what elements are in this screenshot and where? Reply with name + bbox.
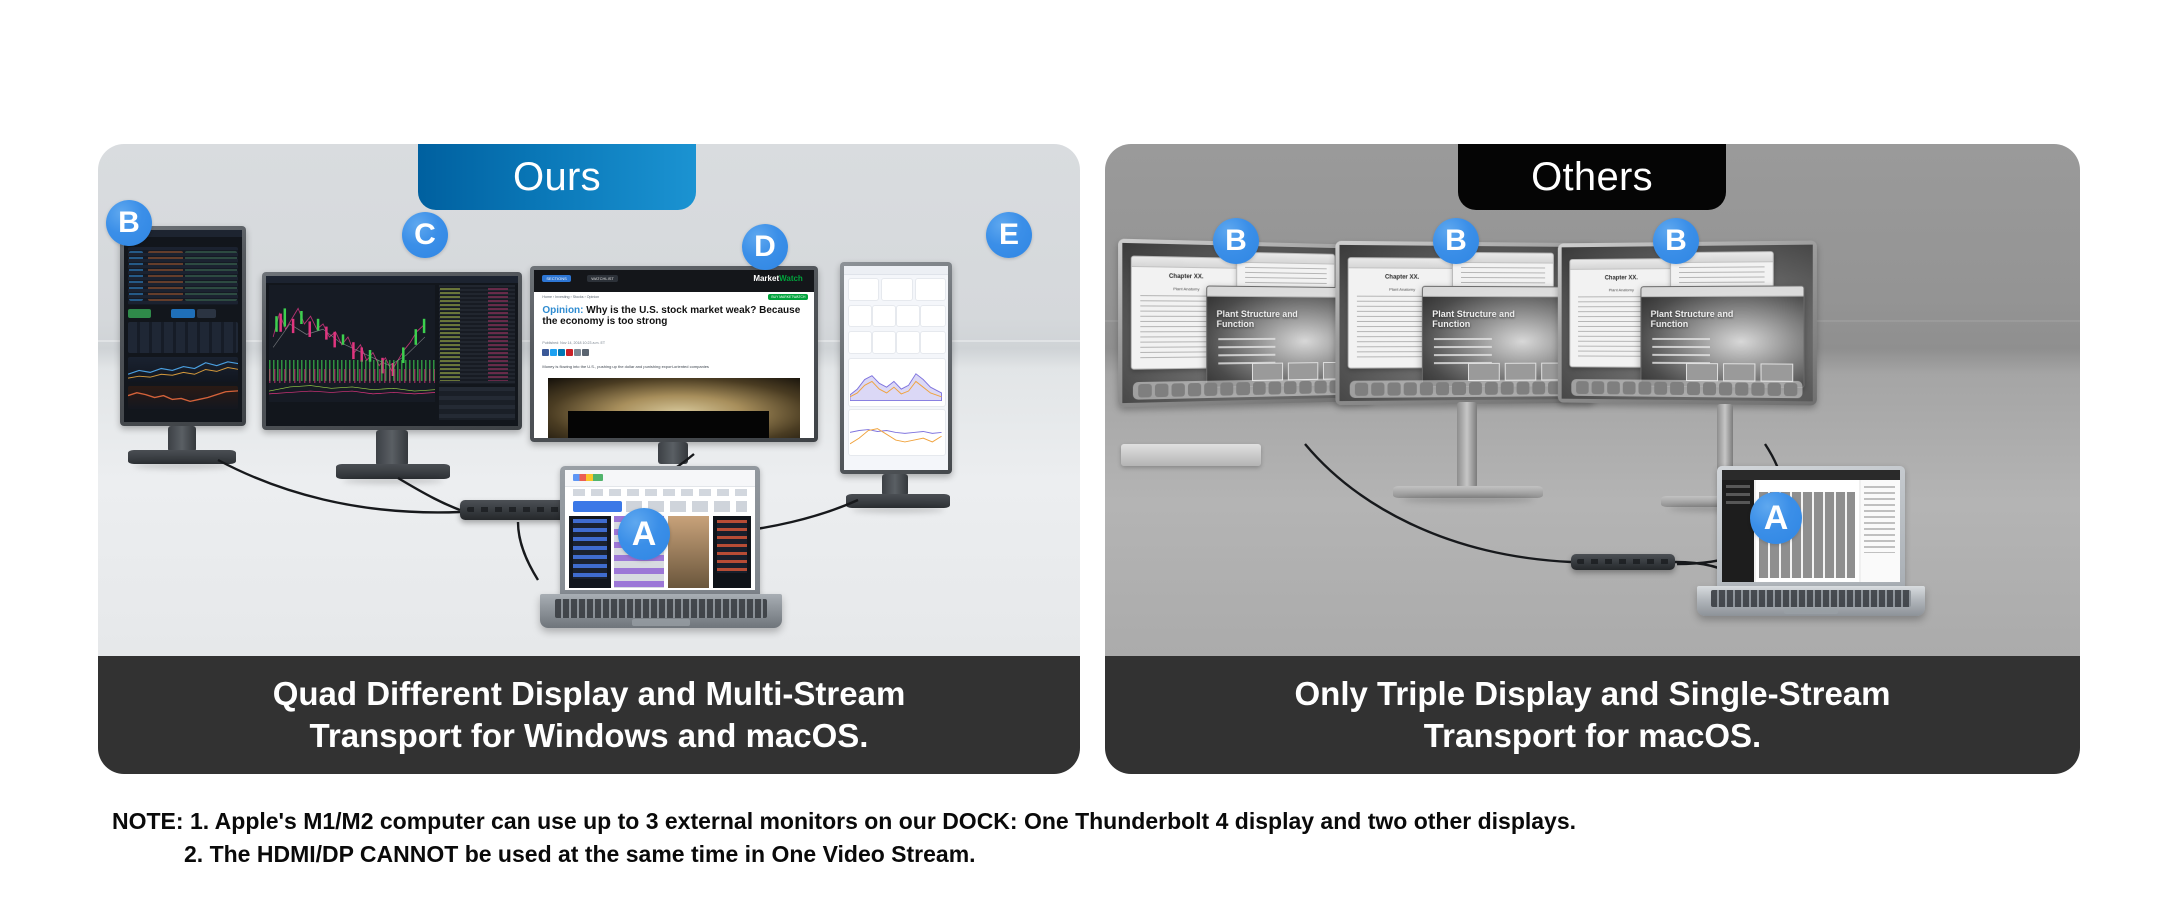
host-laptop-base bbox=[540, 594, 782, 628]
marketwatch-cta[interactable]: BUY MARKETWATCH bbox=[768, 294, 808, 300]
marketwatch-brand-watch: Watch bbox=[779, 274, 803, 283]
pinterest-icon[interactable] bbox=[566, 349, 573, 356]
host-macbook-base bbox=[1697, 586, 1925, 616]
monitor-bezel: Chapter XX. Plant Anatomy Plant Structur… bbox=[1335, 241, 1594, 405]
badge-letter: B bbox=[1225, 224, 1247, 258]
monitor-bezel: Chapter XX. Plant Anatomy Plant Structur… bbox=[1558, 240, 1817, 405]
dock-ports bbox=[1577, 559, 1669, 563]
print-icon[interactable] bbox=[574, 349, 581, 356]
badge-c: C bbox=[402, 212, 448, 258]
monitor-e-stand-neck bbox=[882, 474, 908, 496]
badge-b-2: B bbox=[1433, 218, 1479, 264]
marketwatch-kicker: Opinion: bbox=[542, 305, 583, 316]
laptop-trackpad[interactable] bbox=[632, 619, 690, 626]
tab-others-label: Others bbox=[1531, 155, 1653, 200]
slide-bullets bbox=[1652, 338, 1710, 364]
marketwatch-brand-market: Market bbox=[753, 274, 779, 283]
monitor-e-portrait-dashboard bbox=[840, 262, 952, 474]
monitor-screen: Chapter XX. Plant Anatomy Plant Structur… bbox=[1562, 245, 1813, 402]
monitor-screen: Chapter XX. Plant Anatomy Plant Structur… bbox=[1122, 243, 1370, 403]
macbook-trackpad[interactable] bbox=[1784, 608, 1839, 615]
facebook-icon[interactable] bbox=[542, 349, 549, 356]
slide-title-line2: Function bbox=[1217, 319, 1255, 329]
monitor-bezel bbox=[840, 262, 952, 474]
macbook-keyboard[interactable] bbox=[1711, 590, 1912, 607]
dock-ports bbox=[467, 507, 573, 513]
tab-ours-label: Ours bbox=[513, 155, 601, 200]
slide-thumbnails[interactable] bbox=[1686, 363, 1794, 382]
badge-letter: C bbox=[414, 218, 436, 252]
nav-sections-button[interactable]: SECTIONS bbox=[542, 275, 570, 282]
laptop-keyboard[interactable] bbox=[555, 599, 768, 618]
monitor-screen: Chapter XX. Plant Anatomy Plant Structur… bbox=[1339, 245, 1590, 401]
marketwatch-published: Published: Nov 14, 2018 10:23 a.m. ET bbox=[542, 341, 605, 345]
caption-ours: Quad Different Display and Multi-Stream … bbox=[98, 656, 1080, 774]
slide-bullets bbox=[1434, 338, 1492, 364]
badge-e: E bbox=[986, 212, 1032, 258]
badge-a: A bbox=[1750, 492, 1802, 544]
linkedin-icon[interactable] bbox=[558, 349, 565, 356]
keynote-slide-window[interactable]: Plant Structure and Function bbox=[1640, 285, 1804, 387]
badge-letter: B bbox=[118, 206, 140, 240]
badge-letter: E bbox=[999, 218, 1019, 252]
comparison-panels: SECTIONS WATCHLIST MarketWatch Home › In… bbox=[0, 0, 2160, 908]
competitor-dock bbox=[1571, 554, 1675, 570]
document-title: Chapter XX. bbox=[1348, 275, 1455, 282]
monitor-screen: SECTIONS WATCHLIST MarketWatch Home › In… bbox=[534, 270, 814, 438]
document-title: Chapter XX. bbox=[1131, 274, 1239, 282]
caption-others-line2: Transport for macOS. bbox=[1424, 715, 1761, 757]
nav-watchlist-button[interactable]: WATCHLIST bbox=[587, 275, 618, 282]
badge-letter: B bbox=[1665, 224, 1687, 258]
monitor-b-stand-base bbox=[128, 450, 236, 464]
caption-others-line1: Only Triple Display and Single-Stream bbox=[1295, 673, 1891, 715]
badge-letter: A bbox=[1764, 499, 1789, 538]
scene-others: Chapter XX. Plant Anatomy Plant Structur… bbox=[1105, 144, 2080, 656]
host-macbook-lid bbox=[1717, 466, 1905, 588]
twitter-icon[interactable] bbox=[550, 349, 557, 356]
mirrored-monitor-2: Chapter XX. Plant Anatomy Plant Structur… bbox=[1335, 241, 1594, 405]
marketwatch-standfirst: Money is flowing into the U.S., pushing … bbox=[542, 364, 802, 369]
email-icon[interactable] bbox=[582, 349, 589, 356]
scene-ours: SECTIONS WATCHLIST MarketWatch Home › In… bbox=[98, 144, 1080, 656]
badge-letter: D bbox=[754, 230, 776, 264]
window-titlebar[interactable] bbox=[1570, 259, 1674, 270]
window-titlebar[interactable] bbox=[1348, 258, 1455, 269]
panel-ours: SECTIONS WATCHLIST MarketWatch Home › In… bbox=[98, 144, 1080, 774]
host-macbook-screen bbox=[1722, 470, 1900, 582]
slide-title-line2: Function bbox=[1432, 319, 1470, 329]
slide-title: Plant Structure and Function bbox=[1651, 309, 1751, 329]
monitor-d-stand-neck bbox=[658, 442, 688, 464]
slide-title-line1: Plant Structure and bbox=[1217, 309, 1298, 319]
desk-keyboard[interactable] bbox=[1121, 444, 1261, 466]
caption-ours-line2: Transport for Windows and macOS. bbox=[310, 715, 869, 757]
monitor-c-stand-base bbox=[336, 464, 450, 479]
monitor-c-stand-neck bbox=[376, 430, 408, 466]
badge-d: D bbox=[742, 224, 788, 270]
badge-b-3: B bbox=[1653, 218, 1699, 264]
tab-ours[interactable]: Ours bbox=[418, 144, 696, 210]
slide-title-line2: Function bbox=[1651, 319, 1689, 329]
macos-dock[interactable] bbox=[1350, 379, 1581, 398]
tab-others[interactable]: Others bbox=[1458, 144, 1726, 210]
badge-b: B bbox=[106, 200, 152, 246]
slide-title: Plant Structure and Function bbox=[1432, 309, 1531, 329]
triple-monitor-stand-base bbox=[1393, 486, 1543, 498]
badge-letter: B bbox=[1445, 224, 1467, 258]
note-line-2: 2. The HDMI/DP CANNOT be used at the sam… bbox=[112, 838, 2072, 871]
slide-bullets bbox=[1218, 338, 1275, 364]
slide-title-line1: Plant Structure and bbox=[1432, 309, 1515, 319]
monitor-screen bbox=[124, 230, 242, 422]
caption-others: Only Triple Display and Single-Stream Tr… bbox=[1105, 656, 2080, 774]
monitor-bezel bbox=[262, 272, 522, 430]
marketwatch-topbar: SECTIONS WATCHLIST MarketWatch bbox=[534, 270, 814, 292]
caption-ours-line1: Quad Different Display and Multi-Stream bbox=[273, 673, 906, 715]
macos-dock[interactable] bbox=[1571, 379, 1802, 398]
badge-letter: A bbox=[632, 515, 657, 554]
macos-dock[interactable] bbox=[1133, 378, 1361, 400]
marketwatch-breadcrumb: Home › Investing › Stocks › Opinion bbox=[542, 295, 599, 299]
monitor-bezel bbox=[120, 226, 246, 426]
triple-monitor-stand-neck bbox=[1457, 402, 1477, 488]
note-block: NOTE: 1. Apple's M1/M2 computer can use … bbox=[112, 805, 2072, 870]
monitor-screen bbox=[266, 276, 518, 426]
monitor-c-candlestick bbox=[262, 272, 522, 430]
monitor-bezel: SECTIONS WATCHLIST MarketWatch Home › In… bbox=[530, 266, 818, 442]
monitor-e-stand-base bbox=[846, 494, 950, 508]
panel-others: Chapter XX. Plant Anatomy Plant Structur… bbox=[1105, 144, 2080, 774]
document-title: Chapter XX. bbox=[1570, 276, 1674, 283]
slide-title-line1: Plant Structure and bbox=[1651, 309, 1734, 319]
monitor-screen bbox=[844, 266, 948, 470]
badge-a: A bbox=[618, 508, 670, 560]
monitor-b-portrait-terminal bbox=[120, 226, 246, 426]
monitor-b-stand-neck bbox=[168, 426, 196, 452]
slide-title: Plant Structure and Function bbox=[1217, 309, 1314, 329]
mirrored-monitor-3: Chapter XX. Plant Anatomy Plant Structur… bbox=[1558, 240, 1817, 405]
note-line-1: NOTE: 1. Apple's M1/M2 computer can use … bbox=[112, 805, 2072, 838]
monitor-d-marketwatch: SECTIONS WATCHLIST MarketWatch Home › In… bbox=[530, 266, 818, 442]
marketwatch-share-row[interactable] bbox=[542, 349, 589, 356]
badge-b-1: B bbox=[1213, 218, 1259, 264]
